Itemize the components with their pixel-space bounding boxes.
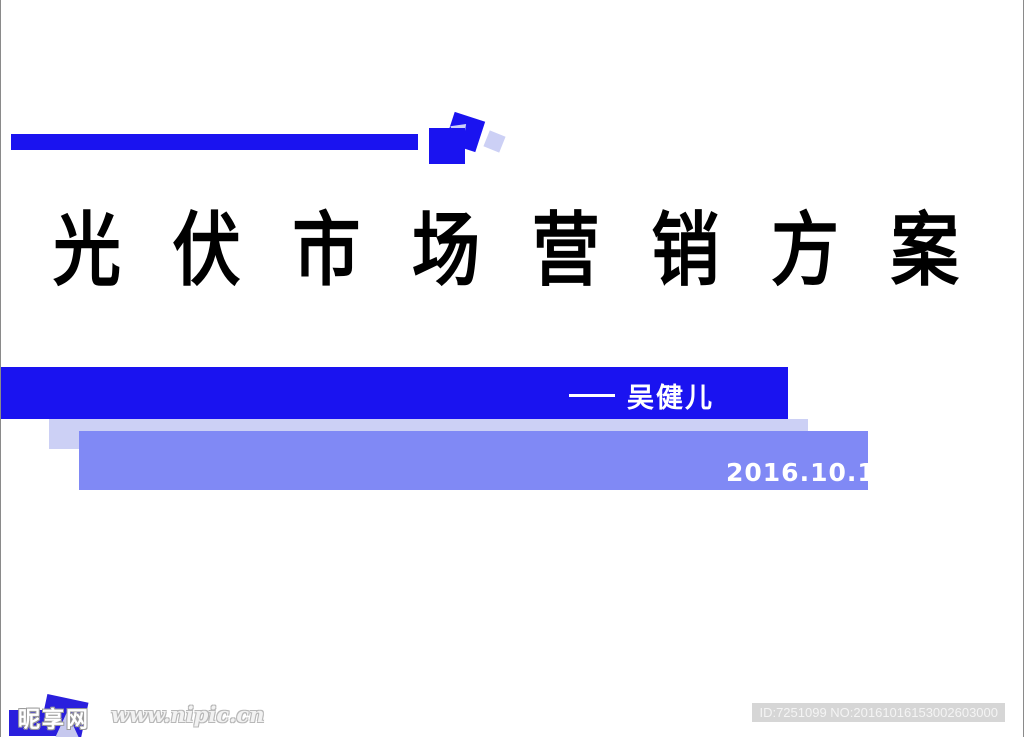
watermark-bar: 昵享网 www.nipic.cn ID:7251099 NO:201610161… (1, 690, 1023, 737)
page-title: 光 伏 市 场 营 销 方 案 (53, 212, 973, 292)
watermark-logo-text: 昵享网 (18, 702, 90, 734)
watermark-id-badge: ID:7251099 NO:20161016153002603000 (752, 703, 1005, 722)
decorative-square-cluster (426, 108, 511, 168)
slide-canvas: 光 伏 市 场 营 销 方 案 吴健儿 2016.10.16 昵享网 www.n… (0, 0, 1024, 737)
presentation-date: 2016.10.16 (726, 458, 894, 487)
small-rotated-square-icon (483, 130, 505, 152)
em-dash-icon (569, 394, 615, 397)
solid-square-icon (429, 128, 465, 164)
author-line: 吴健儿 (569, 375, 714, 415)
watermark-url: www.nipic.cn (111, 702, 265, 727)
author-name: 吴健儿 (627, 376, 714, 415)
top-rule-decoration (11, 134, 418, 150)
